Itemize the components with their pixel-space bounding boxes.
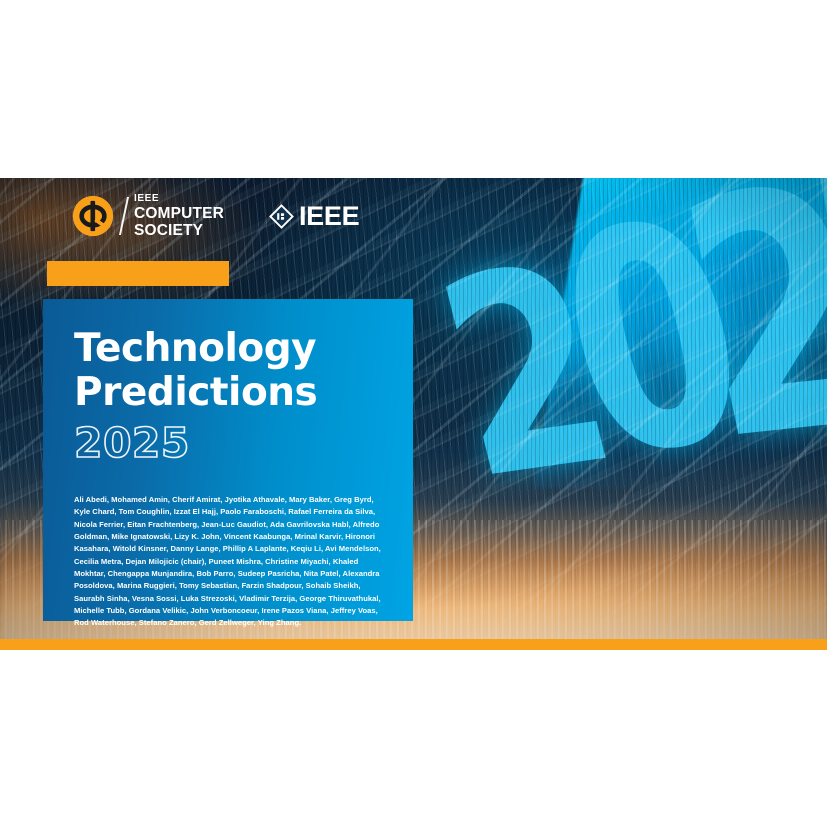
logo-divider (119, 197, 129, 235)
title-line-1: Technology (74, 327, 389, 371)
ieee-cs-wordmark: IEEE COMPUTER SOCIETY (134, 194, 224, 238)
logo-row: IEEE COMPUTER SOCIETY IEEE (72, 194, 359, 238)
orange-accent-bar (47, 261, 229, 286)
page-canvas: 2 0 2 5 IEEE COMPUTER SOCIETY (0, 0, 827, 827)
title-year: 2025 (74, 423, 389, 464)
cs-logo-line-ieee: IEEE (134, 194, 224, 204)
page-title: Technology Predictions (74, 327, 389, 415)
title-line-2: Predictions (74, 371, 389, 415)
title-panel: Technology Predictions 2025 Ali Abedi, M… (43, 299, 413, 621)
cs-logo-line-society: SOCIETY (134, 223, 224, 239)
ieee-cs-phi-mark-icon (72, 195, 114, 237)
cs-logo-line-computer: COMPUTER (134, 206, 224, 222)
ieee-logo[interactable]: IEEE (268, 203, 359, 230)
ieee-diamond-mark-icon (268, 203, 295, 230)
author-list: Ali Abedi, Mohamed Amin, Cherif Amirat, … (74, 494, 386, 629)
ieee-wordmark: IEEE (299, 203, 359, 230)
ieee-computer-society-logo[interactable]: IEEE COMPUTER SOCIETY (72, 194, 224, 238)
bottom-orange-rule (0, 639, 827, 650)
